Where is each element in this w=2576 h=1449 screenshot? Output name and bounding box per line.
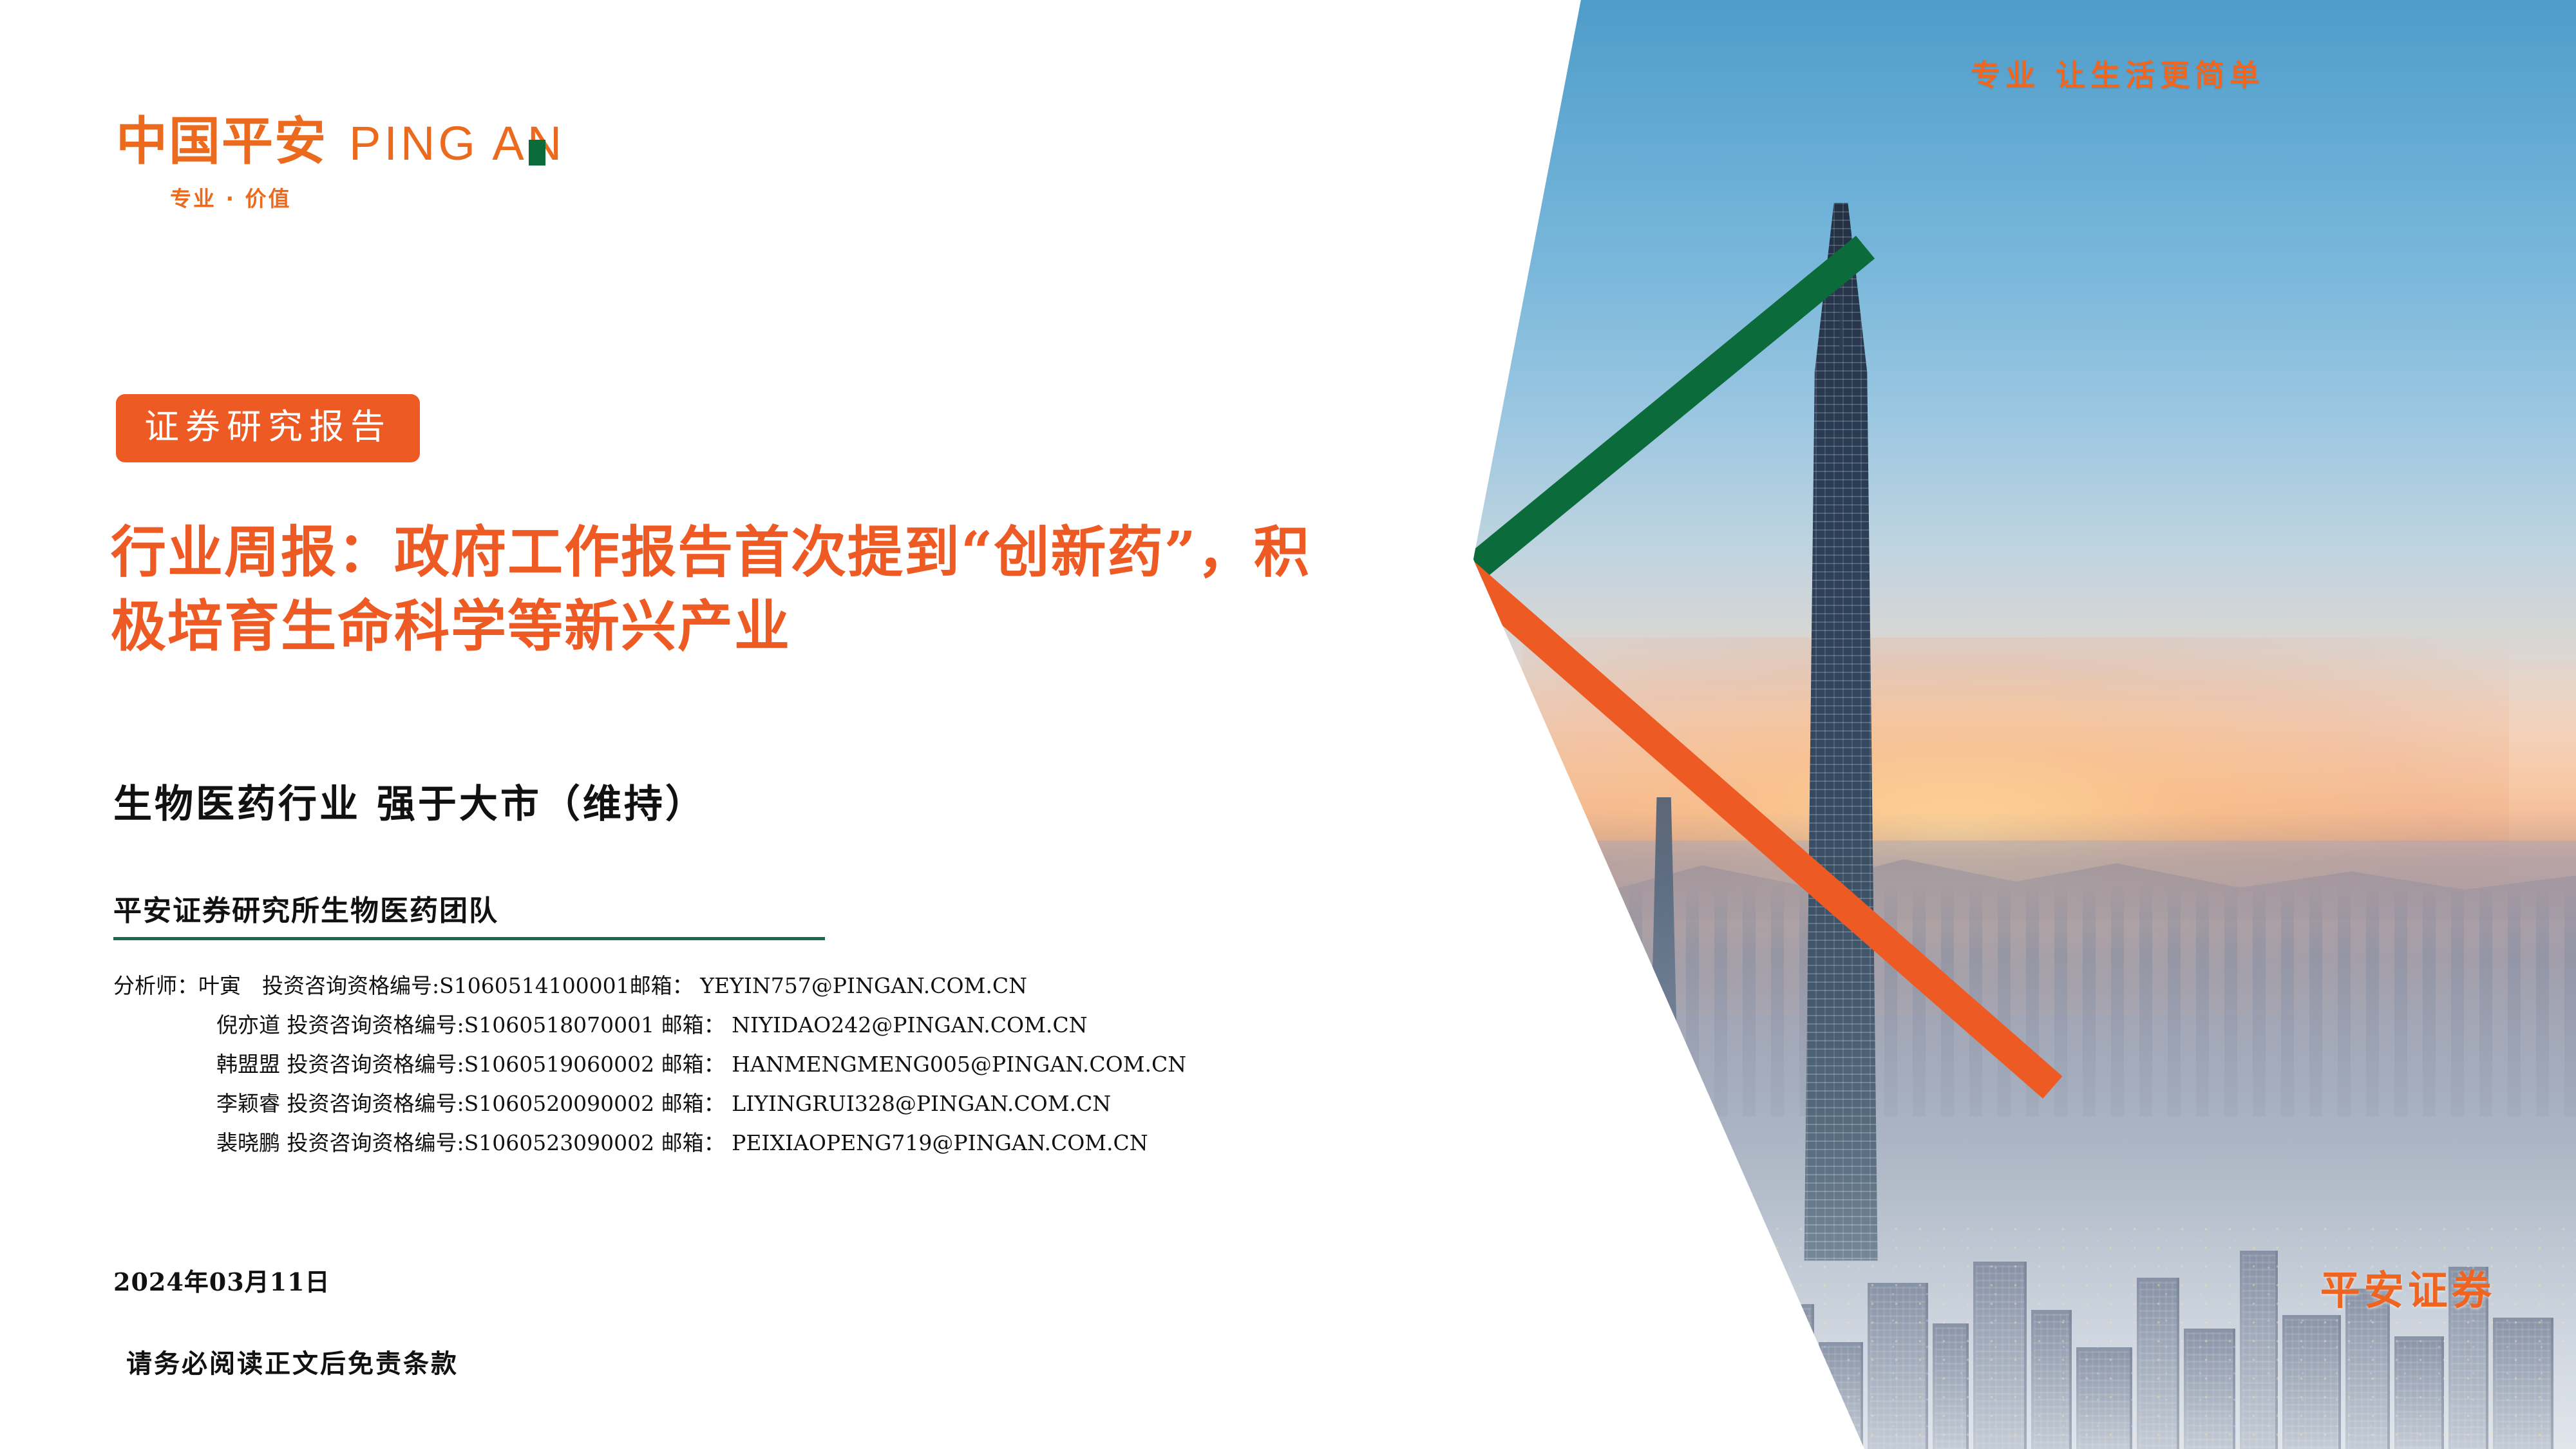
- hero-brand-watermark: 平安证券: [2320, 1258, 2495, 1316]
- logo-tagline: 专业 · 价值: [170, 182, 728, 213]
- list-item: 倪亦道 投资咨询资格编号:S1060518070001 邮箱： NIYIDAO2…: [113, 1005, 1376, 1045]
- building: [1662, 1320, 1719, 1449]
- list-item: 分析师：叶寅 投资咨询资格编号:S1060514100001邮箱： YEYIN7…: [113, 966, 1376, 1005]
- logo-chinese-wordmark: 中国平安: [116, 116, 327, 167]
- report-type-badge: 证券研究报告: [116, 394, 420, 462]
- cover-left-pane: 中国平安 PING AN 专业 · 价值 证券研究报告 行业周报：政府工作报告首…: [0, 0, 1481, 1449]
- city-skyline: [1455, 811, 2576, 1449]
- list-item: 裴晓鹏 投资咨询资格编号:S1060523090002 邮箱： PEIXIAOP…: [113, 1123, 1376, 1162]
- logo-green-accent-icon: [529, 140, 545, 166]
- analyst-list: 分析师：叶寅 投资咨询资格编号:S1060514100001邮箱： YEYIN7…: [113, 966, 1376, 1162]
- research-team-name: 平安证券研究所生物医药团队: [113, 887, 498, 929]
- list-item: 韩盟盟 投资咨询资格编号:S1060519060002 邮箱： HANMENGM…: [113, 1045, 1376, 1084]
- building: [1569, 1352, 1619, 1449]
- building: [1767, 1304, 1814, 1449]
- report-cover-page: 中国平安 PING AN 专业 · 价值 证券研究报告 行业周报：政府工作报告首…: [0, 0, 2576, 1449]
- pingan-logo: 中国平安 PING AN 专业 · 价值: [116, 97, 728, 213]
- cover-hero-image: 专业 让生活更简单 平安证券: [1455, 0, 2576, 1449]
- industry-rating-line: 生物医药行业 强于大市（维持）: [113, 773, 706, 829]
- logo-wordmark-row: 中国平安 PING AN: [116, 97, 728, 167]
- tower-spire: [1839, 293, 1842, 351]
- list-item: 李颖睿 投资咨询资格编号:S1060520090002 邮箱： LIYINGRU…: [113, 1084, 1376, 1123]
- building: [1725, 1256, 1763, 1449]
- logo-latin-wordmark: PING AN: [349, 120, 565, 167]
- hero-tagline: 专业 让生活更简单: [1971, 52, 2264, 95]
- report-title: 行业周报：政府工作报告首次提到“创新药”，积极培育生命科学等新兴产业: [111, 515, 1347, 663]
- city-window-lights: [1455, 1220, 2576, 1449]
- building: [1527, 1294, 1567, 1449]
- report-date: 2024年03月11日: [113, 1262, 330, 1298]
- team-divider: [113, 937, 825, 940]
- disclaimer-note: 请务必阅读正文后免责条款: [126, 1343, 459, 1380]
- building: [1624, 1273, 1657, 1449]
